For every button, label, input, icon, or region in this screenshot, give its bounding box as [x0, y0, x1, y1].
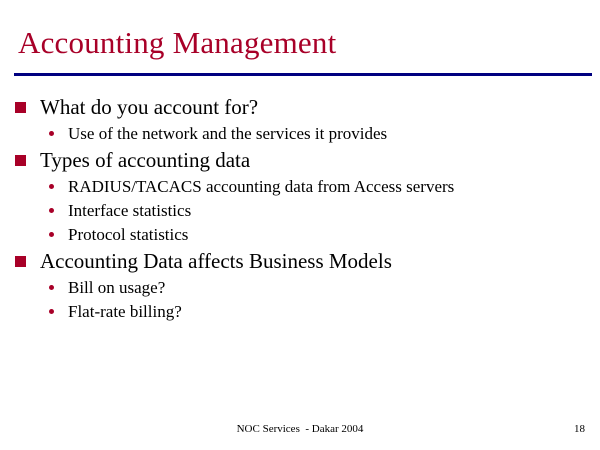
bullet-item-level2: RADIUS/TACACS accounting data from Acces… [0, 175, 600, 199]
title-divider [14, 73, 592, 76]
bullet-text: Use of the network and the services it p… [68, 122, 600, 146]
slide-footer: NOC Services - Dakar 2004 18 [0, 422, 600, 438]
bullet-item-level1: Accounting Data affects Business Models [0, 247, 600, 275]
bullet-item-level2: Flat-rate billing? [0, 300, 600, 324]
bullet-item-level2: Use of the network and the services it p… [0, 122, 600, 146]
bullet-item-level2: Interface statistics [0, 199, 600, 223]
bullet-text: Bill on usage? [68, 276, 600, 300]
dot-bullet-icon [49, 184, 54, 189]
square-bullet-icon [15, 256, 26, 267]
page-number: 18 [574, 422, 585, 436]
square-bullet-icon [15, 155, 26, 166]
bullet-text: Protocol statistics [68, 223, 600, 247]
bullet-text: What do you account for? [40, 95, 258, 119]
dot-bullet-icon [49, 208, 54, 213]
bullet-text: Interface statistics [68, 199, 600, 223]
bullet-text: Types of accounting data [40, 148, 250, 172]
bullet-item-level2: Protocol statistics [0, 223, 600, 247]
dot-bullet-icon [49, 285, 54, 290]
bullet-text: RADIUS/TACACS accounting data from Acces… [68, 175, 600, 199]
bullet-text: Flat-rate billing? [68, 300, 600, 324]
bullet-text: Accounting Data affects Business Models [40, 249, 392, 273]
dot-bullet-icon [49, 131, 54, 136]
dot-bullet-icon [49, 232, 54, 237]
bullet-item-level1: What do you account for? [0, 93, 600, 121]
slide: Accounting Management What do you accoun… [0, 0, 600, 450]
square-bullet-icon [15, 102, 26, 113]
footer-text: NOC Services - Dakar 2004 [0, 422, 600, 436]
dot-bullet-icon [49, 309, 54, 314]
bullet-item-level2: Bill on usage? [0, 276, 600, 300]
bullet-item-level1: Types of accounting data [0, 146, 600, 174]
bullet-list: What do you account for? Use of the netw… [0, 93, 600, 324]
page-title: Accounting Management [18, 24, 336, 62]
